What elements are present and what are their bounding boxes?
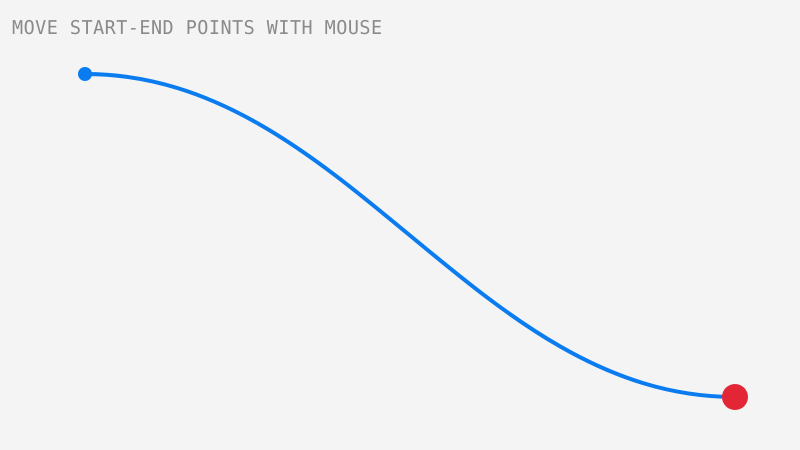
bezier-canvas-stage[interactable]: MOVE START-END POINTS WITH MOUSE	[0, 0, 800, 450]
end-point-handle[interactable]	[722, 384, 748, 410]
page-title: MOVE START-END POINTS WITH MOUSE	[12, 17, 383, 39]
bezier-curve-path	[85, 74, 735, 397]
start-point-handle[interactable]	[78, 67, 92, 81]
bezier-curve-canvas[interactable]	[0, 0, 800, 450]
